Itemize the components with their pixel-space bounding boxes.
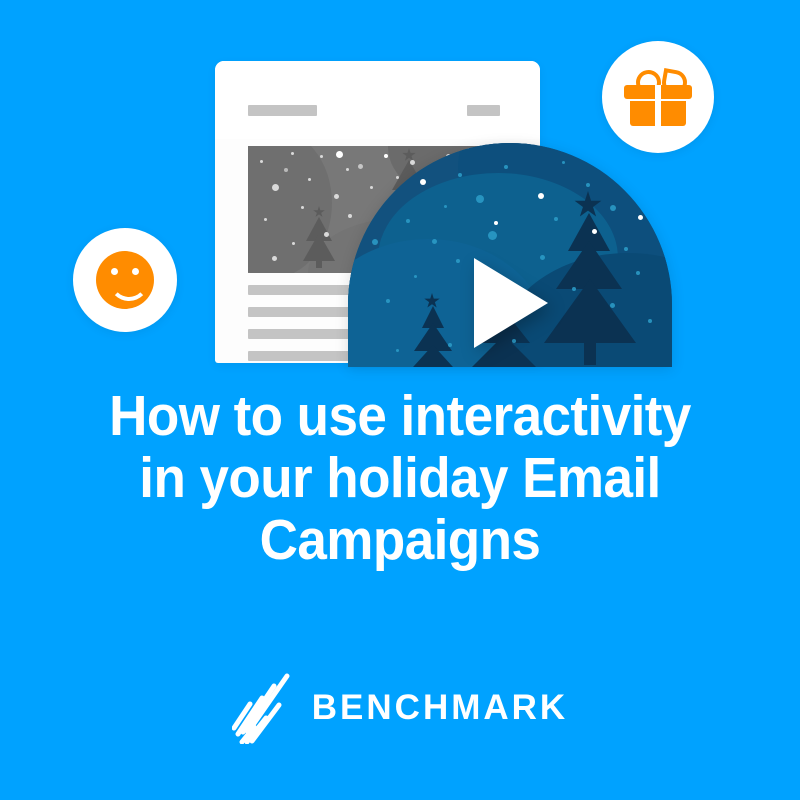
benchmark-swoosh-mark bbox=[232, 672, 294, 744]
swoosh-strokes-icon bbox=[232, 672, 294, 744]
hero-snow-dot bbox=[301, 206, 304, 209]
headline-line-1: How to use interactivity bbox=[28, 385, 772, 447]
gift-icon bbox=[624, 70, 692, 126]
video-snow-dot bbox=[372, 239, 378, 245]
video-snow-dot bbox=[592, 229, 597, 234]
hero-snow-dot bbox=[272, 184, 279, 191]
video-snow-dot bbox=[610, 303, 615, 308]
video-snow-dot bbox=[586, 183, 590, 187]
video-snow-dot bbox=[554, 217, 558, 221]
smiley-eye-left bbox=[111, 268, 118, 275]
hero-snow-dot bbox=[324, 232, 329, 237]
video-snow-dot bbox=[420, 179, 426, 185]
smiley-eye-right bbox=[132, 268, 139, 275]
page-title: How to use interactivity in your holiday… bbox=[28, 385, 772, 571]
video-snow-dot bbox=[572, 287, 576, 291]
video-snow-dot bbox=[562, 161, 565, 164]
gift-ribbon-gap bbox=[655, 85, 661, 126]
headline-line-3: Campaigns bbox=[28, 509, 772, 571]
headline-line-2: in your holiday Email bbox=[28, 447, 772, 509]
video-snow-dot bbox=[396, 349, 399, 352]
smiley-mouth bbox=[109, 277, 149, 301]
video-snow-dot bbox=[488, 231, 497, 240]
video-snow-dot bbox=[386, 299, 390, 303]
video-snow-dot bbox=[636, 271, 640, 275]
hero-snow-dot bbox=[320, 155, 323, 158]
video-snow-dot bbox=[610, 205, 616, 211]
video-snow-dot bbox=[538, 193, 544, 199]
video-snow-dot bbox=[444, 205, 447, 208]
video-snow-dot bbox=[638, 215, 643, 220]
hero-snow-dot bbox=[334, 194, 339, 199]
hero-snow-dot bbox=[272, 256, 277, 261]
video-snow-dot bbox=[648, 319, 652, 323]
hero-snow-dot bbox=[264, 218, 267, 221]
promo-graphic-canvas: How to use interactivity in your holiday… bbox=[0, 0, 800, 800]
video-snow-dot bbox=[414, 275, 417, 278]
video-snow-dot bbox=[448, 343, 452, 347]
benchmark-logo[interactable]: BENCHMARK bbox=[0, 672, 800, 744]
video-snow-dot bbox=[458, 173, 462, 177]
video-snow-dot bbox=[406, 219, 410, 223]
hero-snow-dot bbox=[336, 151, 343, 158]
hero-snow-dot bbox=[292, 242, 295, 245]
email-card-header bbox=[215, 61, 540, 139]
video-snow-dot bbox=[456, 259, 460, 263]
video-snow-dot bbox=[494, 221, 498, 225]
video-snow-dot bbox=[432, 239, 437, 244]
hero-snow-dot bbox=[260, 160, 263, 163]
video-snow-dot bbox=[504, 165, 508, 169]
hero-snow-dot bbox=[308, 178, 311, 181]
email-header-logo-placeholder bbox=[248, 105, 317, 116]
email-header-menu-placeholder bbox=[467, 105, 500, 116]
hero-snow-dot bbox=[284, 168, 288, 172]
benchmark-wordmark: BENCHMARK bbox=[312, 688, 568, 728]
video-snow-dot bbox=[384, 191, 389, 196]
video-play-button[interactable] bbox=[474, 258, 548, 348]
video-snow-dot bbox=[624, 247, 628, 251]
smiley-face-icon bbox=[96, 251, 154, 309]
hero-snow-dot bbox=[291, 152, 294, 155]
video-snow-dot bbox=[476, 195, 484, 203]
